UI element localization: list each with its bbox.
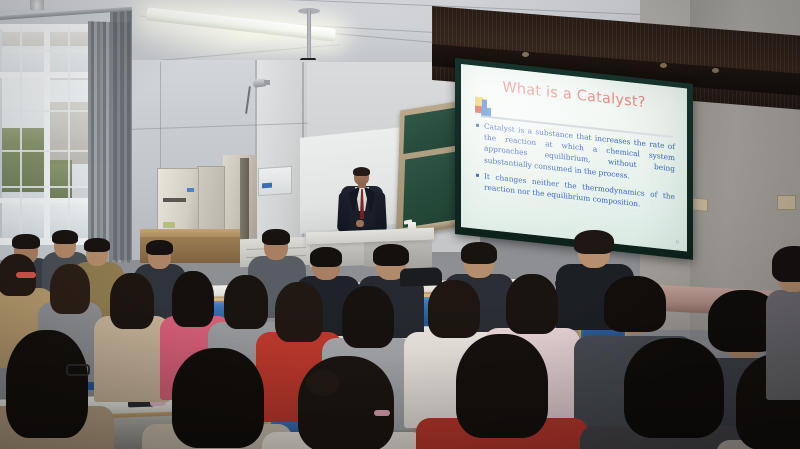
- person-hair: [298, 356, 394, 449]
- slide: What is a Catalyst? Catalyst is a substa…: [461, 64, 687, 252]
- lecture-hall-photo: What is a Catalyst? Catalyst is a substa…: [0, 0, 800, 449]
- eyeglasses-icon: [16, 272, 36, 278]
- person-hair: [262, 229, 290, 245]
- equipment-box: [197, 166, 225, 238]
- person-hair: [373, 244, 409, 266]
- tower-sticker: [163, 222, 175, 228]
- person-hair: [342, 286, 394, 348]
- presenter-hand: [356, 220, 364, 227]
- person-hair: [84, 238, 110, 252]
- presenter-hair: [353, 167, 370, 176]
- person-hair: [50, 264, 90, 314]
- curtain: [110, 10, 132, 260]
- wall-seam: [160, 62, 161, 172]
- eyeglasses-icon: [374, 410, 390, 416]
- person-hair: [428, 280, 480, 338]
- valance-screw: [660, 63, 667, 68]
- person-hair: [12, 234, 40, 249]
- presenter: [336, 168, 388, 234]
- valance-screw: [712, 68, 719, 73]
- person-hair: [110, 273, 154, 329]
- person-hair: [461, 242, 497, 264]
- optical-drive-icon[interactable]: [163, 198, 186, 202]
- person-hair: [310, 247, 342, 267]
- person-hair: [275, 282, 323, 342]
- presenter-arm: [337, 192, 350, 233]
- person-hair: [6, 330, 88, 438]
- valance-screw: [522, 52, 529, 57]
- eyeglasses-icon: [66, 364, 90, 376]
- person-hair: [172, 348, 264, 448]
- person-hair: [456, 334, 548, 438]
- camera-mount: [264, 80, 270, 85]
- bag-on-desk: [400, 267, 442, 286]
- presenter-arm: [374, 192, 387, 233]
- tower-badge: [187, 188, 194, 192]
- drinking-cup: [408, 222, 416, 231]
- person-hair: [146, 240, 173, 255]
- person-hair: [224, 275, 268, 329]
- person-body: [766, 290, 800, 400]
- person-hair: [574, 230, 614, 254]
- person-hair: [624, 338, 724, 438]
- wall-control-panel[interactable]: [258, 166, 292, 196]
- control-panel-button[interactable]: [262, 183, 272, 189]
- door-gap: [240, 158, 249, 250]
- person-hair: [604, 276, 666, 332]
- person-hair: [506, 274, 558, 334]
- wall-sign: [777, 195, 796, 210]
- slide-page-number: 6: [676, 239, 679, 245]
- projection-screen: What is a Catalyst? Catalyst is a substa…: [461, 64, 687, 252]
- hair-bun: [306, 370, 340, 396]
- person-hair: [772, 246, 800, 282]
- person-hair: [172, 271, 214, 327]
- person-hair: [52, 230, 78, 244]
